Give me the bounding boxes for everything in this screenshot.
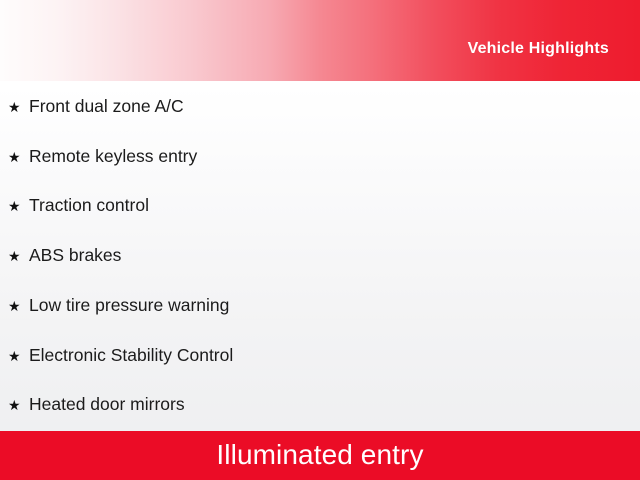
star-bullet-icon: ★: [8, 150, 21, 164]
list-item: ★ Electronic Stability Control: [8, 347, 233, 365]
page-title: Vehicle Highlights: [468, 23, 640, 58]
list-item-label: Heated door mirrors: [29, 396, 185, 414]
list-item: ★ Low tire pressure warning: [8, 297, 229, 315]
footer-banner: Illuminated entry: [0, 431, 640, 480]
vehicle-highlights-list: ★ Front dual zone A/C ★ Remote keyless e…: [0, 81, 640, 431]
list-item-label: Low tire pressure warning: [29, 297, 229, 315]
list-item: ★ Heated door mirrors: [8, 396, 185, 414]
star-bullet-icon: ★: [8, 398, 21, 412]
star-bullet-icon: ★: [8, 349, 21, 363]
list-item: ★ Traction control: [8, 197, 149, 215]
list-item: ★ ABS brakes: [8, 247, 121, 265]
star-bullet-icon: ★: [8, 100, 21, 114]
list-item: ★ Remote keyless entry: [8, 148, 197, 166]
star-bullet-icon: ★: [8, 199, 21, 213]
list-item-label: Remote keyless entry: [29, 148, 197, 166]
vehicle-highlights-card: Vehicle Highlights ★ Front dual zone A/C…: [0, 0, 640, 480]
list-item-label: Front dual zone A/C: [29, 98, 184, 116]
list-item: ★ Front dual zone A/C: [8, 98, 184, 116]
list-item-label: ABS brakes: [29, 247, 121, 265]
card-header: Vehicle Highlights: [0, 0, 640, 81]
list-item-label: Traction control: [29, 197, 149, 215]
footer-banner-label: Illuminated entry: [216, 441, 423, 471]
star-bullet-icon: ★: [8, 249, 21, 263]
star-bullet-icon: ★: [8, 299, 21, 313]
list-item-label: Electronic Stability Control: [29, 347, 233, 365]
